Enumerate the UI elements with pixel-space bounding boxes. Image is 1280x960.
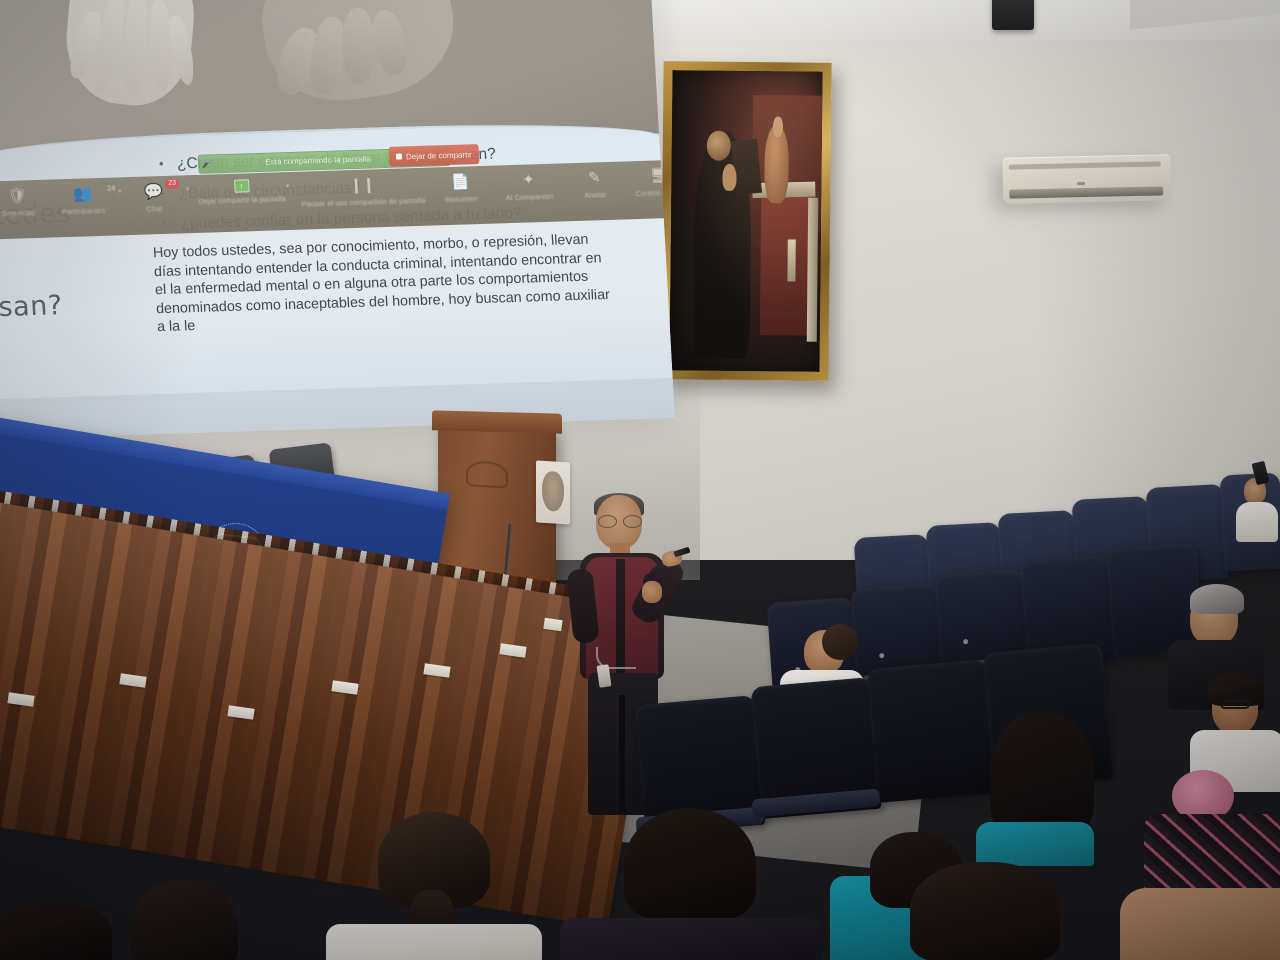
toolbar-item-ai-companion[interactable]: ✦ AI Companion (491, 169, 567, 202)
sparkle-icon: ✦ (522, 170, 536, 189)
eyeglasses-icon (598, 515, 642, 526)
auditorium-seat (866, 659, 997, 803)
stop-sharing-label: Dejar de compartir (406, 150, 472, 161)
summary-icon: 📄 (451, 172, 471, 192)
microphone-icon: 🎤 (199, 158, 216, 169)
toolbar-item-resumen[interactable]: 📄 Resumen (429, 172, 493, 205)
toolbar-label-pausar: Pausar el uso compartido de pantalla (301, 196, 425, 209)
toolbar-label-seguridad: Seguridad (1, 208, 36, 218)
ac-indicator-light (1077, 182, 1085, 185)
ac-vent-top (1009, 161, 1161, 169)
attendee-seated (1150, 770, 1280, 900)
stop-square-icon (396, 153, 402, 159)
presentation-clicker (673, 547, 690, 558)
toolbar-label-chat: Chat (146, 204, 162, 213)
auditorium-scene: Ustedes ué ensan? ¿Creen ser capaces de … (0, 0, 1280, 960)
shield-icon: 🛡 (8, 186, 28, 206)
toolbar-label-ai-companion: AI Companion (505, 192, 553, 202)
eyeglasses-icon (1220, 700, 1250, 709)
chat-unread-badge: 23 (165, 178, 179, 188)
attendee-foreground (580, 808, 800, 960)
participants-count: 24 (107, 183, 116, 192)
attendee-foreground (0, 902, 120, 960)
hand-left-shape (61, 0, 198, 111)
painting-canvas (669, 70, 822, 372)
toolbar-item-anotar[interactable]: ✎ Anotar (565, 168, 625, 201)
attendee-foreground (1120, 888, 1280, 960)
attendee-foreground (120, 880, 250, 960)
name-card (543, 618, 562, 631)
share-screen-icon: ↑ (234, 179, 250, 192)
stop-sharing-button[interactable]: Dejar de compartir (388, 144, 479, 167)
slide-title-line-3: ensan? (0, 282, 115, 333)
toolbar-item-chat[interactable]: 💬 23 ▾ Chat (119, 181, 189, 214)
slide-paragraph: Hoy todos ustedes, sea por conocimiento,… (152, 230, 612, 337)
toolbar-item-dejar-compartir[interactable]: ↑ ▾ Dejar compartir la pantalla (187, 178, 296, 206)
toolbar-label-resumen: Resumen (445, 194, 478, 204)
slide-title-line-2: ué (0, 236, 112, 287)
air-conditioner-unit (1003, 154, 1172, 204)
toolbar-label-participantes: Participantes (62, 206, 106, 216)
pause-icon: ❙❙ (349, 175, 375, 195)
toolbar-item-pausar[interactable]: ❙❙ Pausar el uso compartido de pantalla (295, 174, 431, 209)
toolbar-item-participantes[interactable]: 👥 24 ▾ Participantes (45, 183, 121, 216)
ceiling-speaker-icon (992, 0, 1034, 30)
pencil-icon: ✎ (588, 168, 602, 187)
attendee-filming (1236, 470, 1280, 540)
people-icon: 👥 (73, 184, 93, 204)
toolbar-label-anotar: Anotar (584, 190, 607, 200)
toolbar-item-seguridad[interactable]: 🛡 Seguridad (0, 186, 47, 219)
framed-painting (660, 61, 831, 381)
attendee-foreground (890, 862, 1090, 960)
hand-right-shape (250, 0, 463, 110)
chat-icon: 💬 (144, 182, 164, 202)
podium-crest-plaque (536, 460, 570, 524)
toolbar-label-dejar-compartir: Dejar compartir la pantalla (198, 194, 286, 206)
attendee-foreground (340, 812, 530, 960)
ac-vent-bottom (1009, 186, 1163, 198)
chevron-down-icon[interactable]: ▾ (286, 182, 290, 190)
podium-carving (466, 460, 508, 489)
presenter-left-hand (642, 581, 662, 603)
projection-screen: Ustedes ué ensan? ¿Creen ser capaces de … (0, 0, 675, 439)
podium-top-surface (432, 410, 562, 433)
